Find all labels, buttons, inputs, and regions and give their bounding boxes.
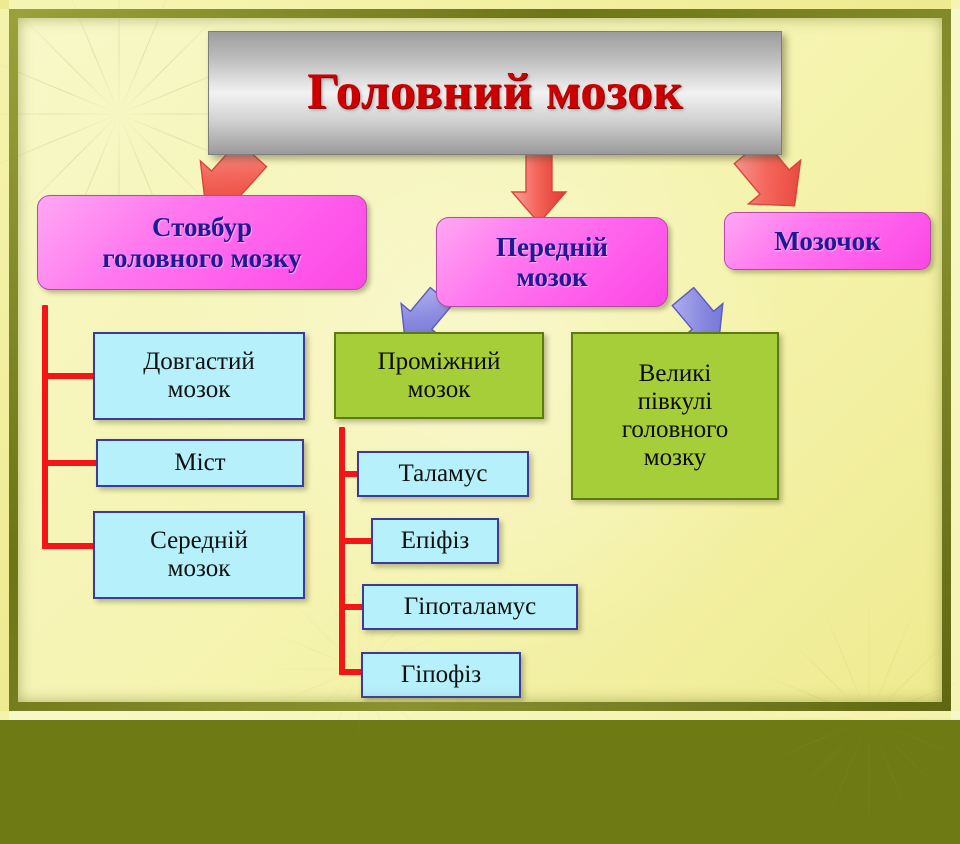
node-pons[interactable]: Міст [96, 439, 304, 487]
node-diencephalon-label: Проміжниймозок [336, 348, 542, 404]
node-brainstem[interactable]: Стовбурголовного мозку [37, 195, 367, 290]
page-title: Головний мозок [208, 31, 782, 155]
bracket-branch [42, 543, 98, 549]
node-diencephalon[interactable]: Проміжниймозок [334, 332, 544, 419]
bracket-spine [42, 305, 48, 549]
page-title-text: Головний мозок [209, 64, 781, 121]
node-medulla-oblongata[interactable]: Довгастиймозок [93, 332, 305, 420]
node-pons-label: Міст [98, 449, 302, 477]
node-midbrain-label: Середніймозок [95, 527, 303, 583]
node-cerebral-hemispheres-label: Великіпівкулі головногомозку [573, 360, 777, 472]
starburst-decoration [744, 594, 960, 844]
node-pineal-gland[interactable]: Епіфіз [371, 518, 499, 564]
bracket-branch [42, 373, 98, 379]
node-hypothalamus[interactable]: Гіпоталамус [362, 584, 578, 630]
node-thalamus[interactable]: Таламус [357, 451, 529, 497]
bracket-spine [339, 427, 345, 675]
node-medulla-oblongata-label: Довгастиймозок [95, 348, 303, 404]
arrow-title-to-perednii [506, 144, 572, 226]
node-pineal-gland-label: Епіфіз [373, 527, 497, 555]
node-forebrain[interactable]: Передніймозок [436, 217, 668, 307]
node-forebrain-label: Передніймозок [437, 232, 667, 292]
node-cerebellum-label: Мозочок [725, 226, 930, 256]
node-midbrain[interactable]: Середніймозок [93, 511, 305, 599]
node-pituitary-gland[interactable]: Гіпофіз [361, 652, 521, 698]
node-brainstem-label: Стовбурголовного мозку [38, 212, 366, 272]
node-hypothalamus-label: Гіпоталамус [364, 593, 576, 621]
node-cerebellum[interactable]: Мозочок [724, 212, 931, 270]
bracket-branch [42, 460, 100, 466]
node-thalamus-label: Таламус [359, 460, 527, 488]
node-cerebral-hemispheres[interactable]: Великіпівкулі головногомозку [571, 332, 779, 500]
node-pituitary-gland-label: Гіпофіз [363, 661, 519, 689]
slide-canvas: Головний мозок [0, 0, 960, 720]
